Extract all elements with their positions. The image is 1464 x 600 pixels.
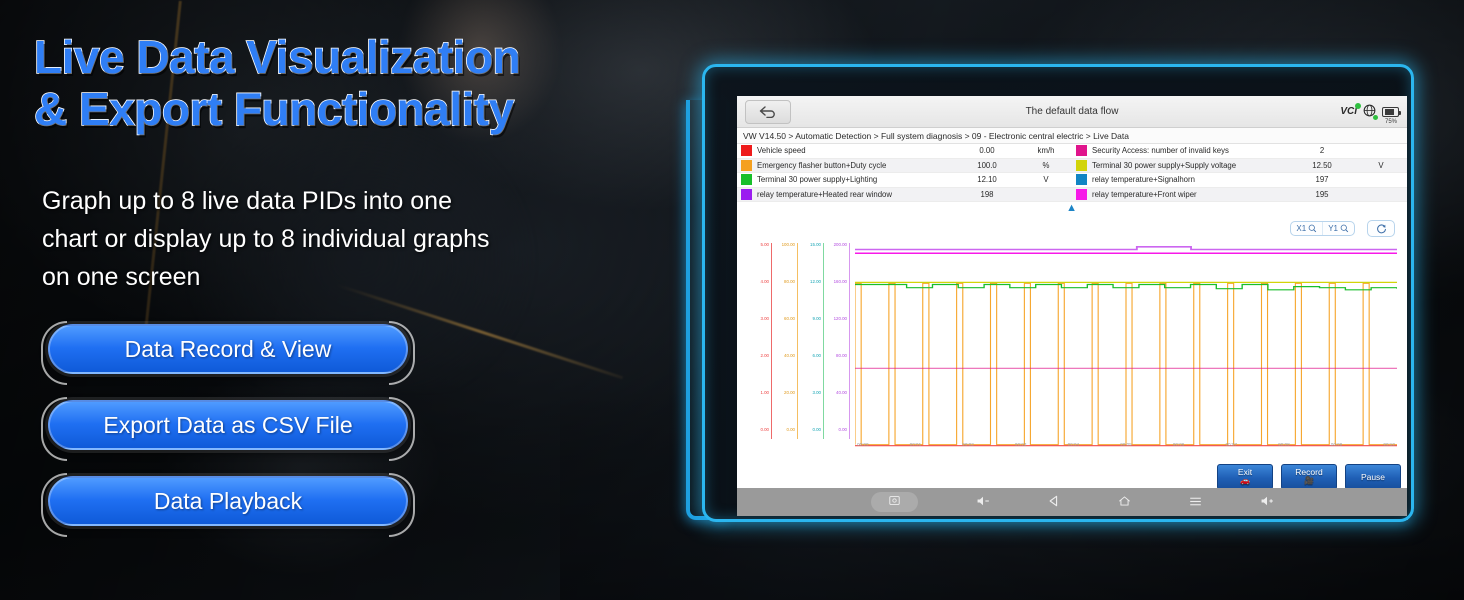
y-axis-lighting-voltage: 15.00 12.00 9.00 6.00 3.00 0.00 [801, 241, 827, 451]
series-color-swatch [741, 189, 752, 200]
refresh-button[interactable] [1367, 220, 1395, 237]
refresh-icon [1376, 223, 1387, 234]
y-axis-zoom-button[interactable]: Y1 [1322, 222, 1354, 235]
pid-table: Vehicle speed 0.00 km/h Emergency flashe… [737, 144, 1407, 202]
table-row[interactable]: Terminal 30 power supply+Supply voltage … [1072, 159, 1407, 174]
pid-value: 2 [1289, 146, 1355, 155]
x-tick: 00:05 [1120, 442, 1132, 454]
y-axis-vehicle-speed: 5.00 4.00 3.00 2.00 1.00 0.00 [749, 241, 775, 451]
pause-button-label: Pause [1361, 473, 1385, 482]
subheadline-line-3: on one screen [42, 258, 682, 296]
back-nav-icon[interactable] [1048, 495, 1060, 509]
video-record-icon: 🎥 [1304, 477, 1314, 485]
x-tick: 00:06 [1173, 442, 1185, 454]
x-tick: 00:00 [857, 442, 869, 454]
screenshot-icon[interactable] [871, 492, 918, 512]
headline-line-2: & Export Functionality [34, 84, 714, 136]
home-nav-icon[interactable] [1118, 495, 1131, 509]
pid-name: relay temperature+Signalhorn [1092, 175, 1289, 184]
series-color-swatch [1076, 189, 1087, 200]
pid-unit: % [1020, 161, 1072, 170]
subheadline-line-2: chart or display up to 8 individual grap… [42, 220, 682, 258]
chart-action-buttons: Exit 🚗 Record 🎥 Pause [1217, 464, 1401, 490]
table-row[interactable]: relay temperature+Signalhorn 197 [1072, 173, 1407, 188]
collapse-panel-button[interactable]: ▲ [737, 202, 1407, 215]
subheadline: Graph up to 8 live data PIDs into one ch… [42, 182, 682, 296]
chart-toolbar: X1 Y1 [737, 215, 1407, 241]
back-button[interactable] [745, 100, 791, 124]
feature-pill-data-record-view[interactable]: Data Record & View [48, 324, 408, 374]
series-color-swatch [741, 160, 752, 171]
series-color-swatch [741, 145, 752, 156]
y-axis-duty-cycle: 100.00 80.00 60.00 40.00 20.00 0.00 [775, 241, 801, 451]
series-color-swatch [1076, 160, 1087, 171]
pid-name: Terminal 30 power supply+Supply voltage [1092, 161, 1289, 170]
x-tick: 00:07 [1225, 442, 1237, 454]
chart-y-axes: 5.00 4.00 3.00 2.00 1.00 0.00 100.00 80.… [749, 241, 853, 451]
battery-icon: 75% [1382, 107, 1399, 117]
globe-icon [1363, 104, 1376, 119]
breadcrumb: VW V14.50 > Automatic Detection > Full s… [737, 128, 1407, 144]
x-tick: 00:01 [910, 442, 922, 454]
record-button[interactable]: Record 🎥 [1281, 464, 1337, 490]
menu-nav-icon[interactable] [1189, 496, 1202, 509]
app-title: The default data flow [737, 106, 1407, 117]
table-row[interactable]: Security Access: number of invalid keys … [1072, 144, 1407, 159]
pid-value: 100.0 [954, 161, 1020, 170]
pid-value: 0.00 [954, 146, 1020, 155]
battery-percent-label: 75% [1385, 119, 1397, 125]
x-tick: 00:04 [1068, 442, 1080, 454]
series-color-swatch [741, 174, 752, 185]
table-row[interactable]: relay temperature+Heated rear window 198 [737, 188, 1072, 203]
y-zoom-label: Y1 [1328, 224, 1338, 233]
pid-name: Emergency flasher button+Duty cycle [757, 161, 954, 170]
x-axis-zoom-button[interactable]: X1 [1291, 222, 1322, 235]
x-tick: 00:08 [1278, 442, 1290, 454]
chevron-double-up-icon: ▲ [1066, 203, 1078, 214]
headline-line-1: Live Data Visualization [34, 32, 714, 84]
exit-button[interactable]: Exit 🚗 [1217, 464, 1273, 490]
series-color-swatch [1076, 174, 1087, 185]
feature-pill-list: Data Record & View Export Data as CSV Fi… [48, 324, 408, 552]
pid-value: 12.50 [1289, 161, 1355, 170]
tablet-screen: The default data flow VCI 75% VW V14.50 … [737, 96, 1407, 516]
pid-name: Security Access: number of invalid keys [1092, 146, 1289, 155]
x-tick: 00:10 [1383, 442, 1395, 454]
chart-x-axis-labels: 00:00 00:01 00:02 00:03 00:04 00:05 00:0… [855, 442, 1397, 454]
page-title: Live Data Visualization & Export Functio… [34, 32, 714, 135]
table-row[interactable]: Emergency flasher button+Duty cycle 100.… [737, 159, 1072, 174]
x-zoom-label: X1 [1296, 224, 1306, 233]
x-tick: 00:09 [1331, 442, 1343, 454]
pid-unit: km/h [1020, 146, 1072, 155]
car-exit-icon: 🚗 [1240, 477, 1250, 485]
subheadline-line-1: Graph up to 8 live data PIDs into one [42, 182, 682, 220]
table-row[interactable]: Terminal 30 power supply+Lighting 12.10 … [737, 173, 1072, 188]
pid-name: Terminal 30 power supply+Lighting [757, 175, 954, 184]
pid-unit: V [1355, 161, 1407, 170]
pid-unit: V [1020, 175, 1072, 184]
pid-column-right: Security Access: number of invalid keys … [1072, 144, 1407, 202]
axis-zoom-group: X1 Y1 [1290, 221, 1355, 236]
pid-value: 198 [954, 190, 1020, 199]
x-tick: 00:02 [962, 442, 974, 454]
magnifier-icon [1308, 224, 1317, 233]
vci-icon: VCI [1340, 106, 1357, 117]
y-axis-heated-rear-window: 200.00 160.00 120.00 80.00 40.00 0.00 [827, 241, 853, 451]
pause-button[interactable]: Pause [1345, 464, 1401, 490]
pid-name: relay temperature+Front wiper [1092, 190, 1289, 199]
pid-name: Vehicle speed [757, 146, 954, 155]
feature-pill-data-playback[interactable]: Data Playback [48, 476, 408, 526]
volume-up-icon[interactable] [1260, 495, 1274, 509]
status-icon-group: VCI 75% [1340, 104, 1399, 119]
series-color-swatch [1076, 145, 1087, 156]
table-row[interactable]: Vehicle speed 0.00 km/h [737, 144, 1072, 159]
table-row[interactable]: relay temperature+Front wiper 195 [1072, 188, 1407, 203]
magnifier-icon [1340, 224, 1349, 233]
pid-column-left: Vehicle speed 0.00 km/h Emergency flashe… [737, 144, 1072, 202]
app-header: The default data flow VCI 75% [737, 96, 1407, 128]
chart-traces [855, 241, 1397, 451]
live-data-chart[interactable]: 5.00 4.00 3.00 2.00 1.00 0.00 100.00 80.… [749, 241, 1397, 451]
pid-value: 197 [1289, 175, 1355, 184]
volume-down-icon[interactable] [976, 495, 990, 509]
pid-name: relay temperature+Heated rear window [757, 190, 954, 199]
back-arrow-icon [759, 106, 777, 118]
pid-value: 12.10 [954, 175, 1020, 184]
feature-pill-export-csv[interactable]: Export Data as CSV File [48, 400, 408, 450]
android-navbar [737, 488, 1407, 516]
chart-plot-area[interactable] [855, 241, 1397, 451]
pid-value: 195 [1289, 190, 1355, 199]
x-tick: 00:03 [1015, 442, 1027, 454]
